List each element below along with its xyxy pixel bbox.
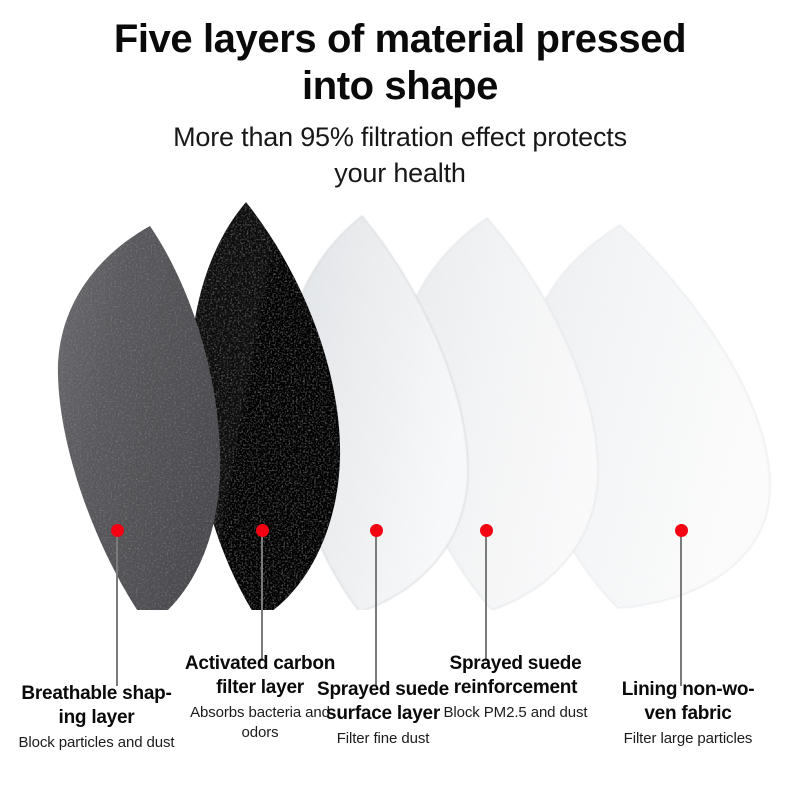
layer-label-title: Lining non-wo- ven fabric: [598, 678, 778, 726]
label-lining-non-woven-fabric-layer: Lining non-wo- ven fabricFilter large pa…: [598, 678, 778, 749]
layer-labels-group: Breathable shap- ing layerBlock particle…: [0, 0, 800, 800]
layer-label-subtitle: Block PM2.5 and dust: [428, 703, 603, 723]
layer-label-title: Sprayed suede reinforcement: [428, 652, 603, 700]
layer-label-subtitle: Filter fine dust: [303, 729, 463, 749]
label-sprayed-suede-reinforcement-layer: Sprayed suede reinforcementBlock PM2.5 a…: [428, 652, 603, 723]
layer-label-subtitle: Filter large particles: [598, 729, 778, 749]
